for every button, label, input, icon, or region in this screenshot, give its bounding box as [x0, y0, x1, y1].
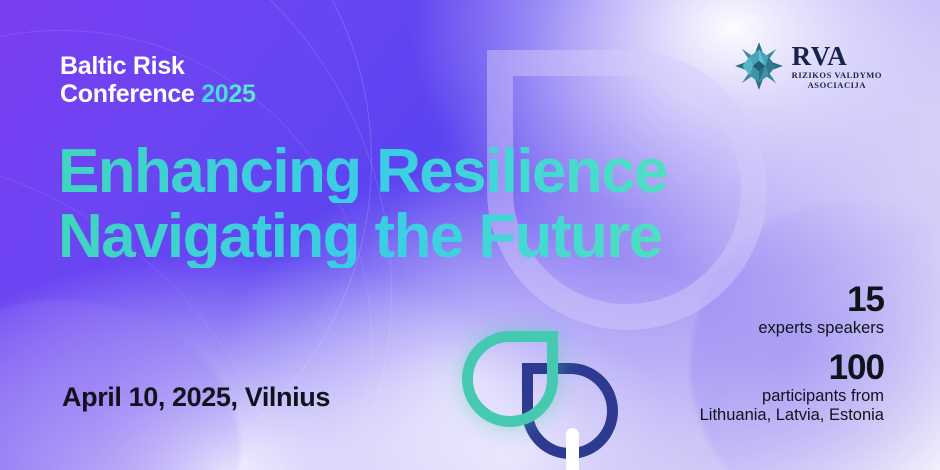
event-name-line-2: Conference 2025 [60, 80, 256, 108]
stat-label-secondary: Lithuania, Latvia, Estonia [700, 406, 884, 425]
event-date-location: April 10, 2025, Vilnius [62, 382, 330, 413]
event-stats: 15 experts speakers 100 participants fro… [700, 282, 884, 424]
stat-number: 100 [700, 350, 884, 385]
page-title: Enhancing Resilience Navigating the Futu… [58, 142, 667, 268]
stat-item: 15 experts speakers [700, 282, 884, 338]
white-bar-accent-icon [566, 428, 579, 470]
event-name-heading: Baltic Risk Conference 2025 [60, 52, 256, 108]
stat-number: 15 [700, 282, 884, 317]
rva-logo-subtitle-2: ASOCIACIJA [792, 81, 882, 90]
rva-logo-text: RVA RIZIKOS VALDYMO ASOCIACIJA [792, 43, 882, 89]
faceted-star-polyhedron-icon [733, 40, 785, 92]
rva-logo: RVA RIZIKOS VALDYMO ASOCIACIJA [733, 40, 882, 92]
rva-logo-subtitle-1: RIZIKOS VALDYMO [792, 71, 882, 80]
page-title-line-2: Navigating the Future [58, 207, 667, 268]
conference-banner: RVA RIZIKOS VALDYMO ASOCIACIJA Baltic Ri… [0, 0, 940, 470]
d-ring-teal-icon [462, 331, 558, 427]
event-name-conference-word: Conference [60, 80, 195, 108]
stat-item: 100 participants from Lithuania, Latvia,… [700, 350, 884, 425]
page-title-line-1: Enhancing Resilience [58, 142, 667, 203]
event-name-line-1: Baltic Risk [60, 52, 256, 80]
event-year: 2025 [201, 80, 255, 108]
stat-label: participants from [700, 387, 884, 406]
stat-label: experts speakers [700, 319, 884, 338]
rva-logo-title: RVA [792, 43, 882, 70]
